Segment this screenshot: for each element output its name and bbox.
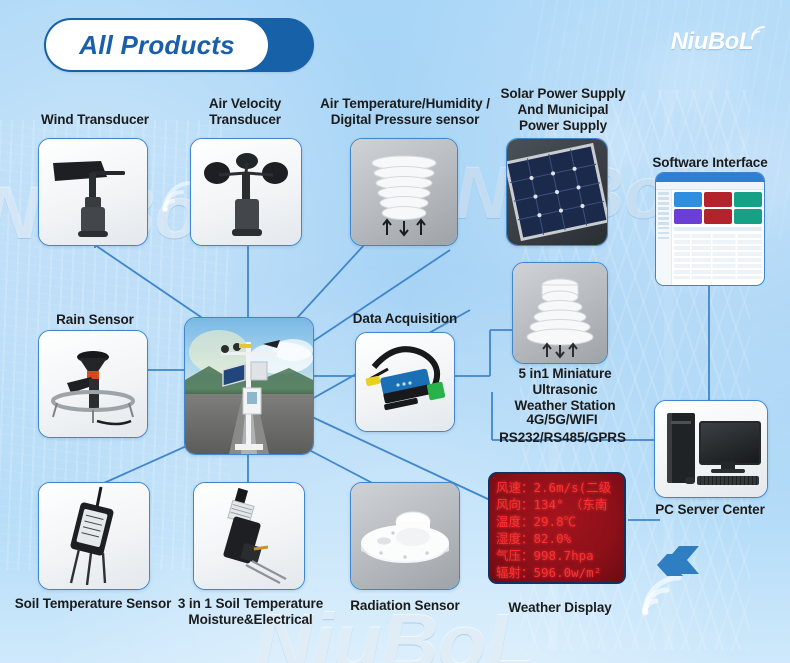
software-main [672, 190, 764, 286]
brand-logo: NiuBoL [671, 28, 768, 56]
wind-transducer-art [39, 139, 147, 245]
all-products-label: All Products [79, 30, 235, 61]
label-data-acquisition: Data Acquisition [340, 311, 470, 327]
pc-keyboard-icon [697, 476, 759, 485]
software-sidebar [656, 190, 672, 286]
label-pc-server: PC Server Center [645, 502, 775, 518]
card-weather-display[interactable]: 风速：2.6m/s(二级 风向：134° （东南 温度：29.8℃ 湿度：82.… [488, 472, 626, 584]
brand-name: NiuBoL [671, 28, 753, 56]
label-wind-transducer: Wind Transducer [10, 112, 180, 128]
label-wired-protocols: RS232/RS485/GPRS [480, 430, 645, 446]
ultrasonic-station-art [513, 263, 607, 363]
all-products-badge[interactable]: All Products [44, 18, 314, 72]
software-titlebar [656, 173, 764, 182]
card-wind-transducer[interactable] [38, 138, 148, 246]
card-rain-sensor[interactable] [38, 330, 148, 438]
metric-card [704, 209, 732, 224]
air-temp-humidity-art [351, 139, 457, 245]
rain-sensor-art [39, 331, 147, 437]
label-software-interface: Software Interface [640, 155, 780, 171]
card-solar-power[interactable] [506, 138, 608, 246]
label-air-velocity: Air Velocity Transducer [175, 96, 315, 128]
all-products-badge-inner: All Products [46, 20, 268, 70]
radiation-sensor-art [351, 483, 459, 589]
software-metric-grid [674, 192, 762, 224]
brand-signal-icon [750, 26, 768, 42]
led-line-temperature: 温度：29.8℃ [496, 513, 624, 530]
led-line-wind-direction: 风向：134° （东南 [496, 496, 624, 513]
card-soil-3in1[interactable] [193, 482, 305, 590]
label-radiation-sensor: Radiation Sensor [345, 598, 465, 614]
soil-3in1-art [194, 483, 304, 589]
metric-card [734, 209, 762, 224]
metric-card [734, 192, 762, 207]
metric-card [704, 192, 732, 207]
pc-mouse-icon [685, 477, 695, 484]
soil-temperature-art [39, 483, 149, 589]
software-body [656, 190, 764, 286]
metric-card [674, 192, 702, 207]
pc-server-art [655, 401, 767, 497]
label-soil-3in1: 3 in 1 Soil Temperature Moisture&Electri… [168, 596, 333, 628]
card-ultrasonic-station[interactable] [512, 262, 608, 364]
card-pc-server[interactable] [654, 400, 768, 498]
label-weather-display: Weather Display [497, 600, 623, 616]
pc-monitor-icon [699, 421, 761, 465]
led-line-pressure: 气压：998.7hpa [496, 547, 624, 564]
card-radiation-sensor[interactable] [350, 482, 460, 590]
infographic-canvas: NiuBoL NiuBoL NiuBoL [0, 0, 790, 663]
card-soil-temperature[interactable] [38, 482, 150, 590]
metric-card [674, 209, 702, 224]
data-acquisition-art [356, 333, 454, 431]
software-data-table [674, 227, 762, 279]
label-rain-sensor: Rain Sensor [20, 312, 170, 328]
label-wireless-protocols: 4G/5G/WIFI [492, 412, 632, 428]
label-air-temp-humidity: Air Temperature/Humidity / Digital Press… [310, 96, 500, 128]
card-air-velocity[interactable] [190, 138, 302, 246]
label-solar-power: Solar Power Supply And Municipal Power S… [488, 86, 638, 134]
card-air-temp-humidity[interactable] [350, 138, 458, 246]
label-soil-temperature: Soil Temperature Sensor [8, 596, 178, 612]
card-data-acquisition[interactable] [355, 332, 455, 432]
solar-panel-art [507, 139, 607, 245]
air-velocity-art [191, 139, 301, 245]
led-line-wind-speed: 风速：2.6m/s(二级 [496, 479, 624, 496]
card-software-interface[interactable] [655, 172, 765, 286]
chevron-arrows [655, 540, 725, 588]
weather-station-photo [185, 318, 313, 454]
pc-monitor-base [711, 469, 745, 473]
led-line-radiation: 辐射：596.0w/m² [496, 564, 624, 581]
pc-tower-icon [667, 413, 695, 483]
label-ultrasonic-station: 5 in1 Miniature Ultrasonic Weather Stati… [485, 366, 645, 414]
software-tabs [656, 182, 764, 190]
led-line-humidity: 湿度：82.0% [496, 530, 624, 547]
card-weather-station-center[interactable] [184, 317, 314, 455]
